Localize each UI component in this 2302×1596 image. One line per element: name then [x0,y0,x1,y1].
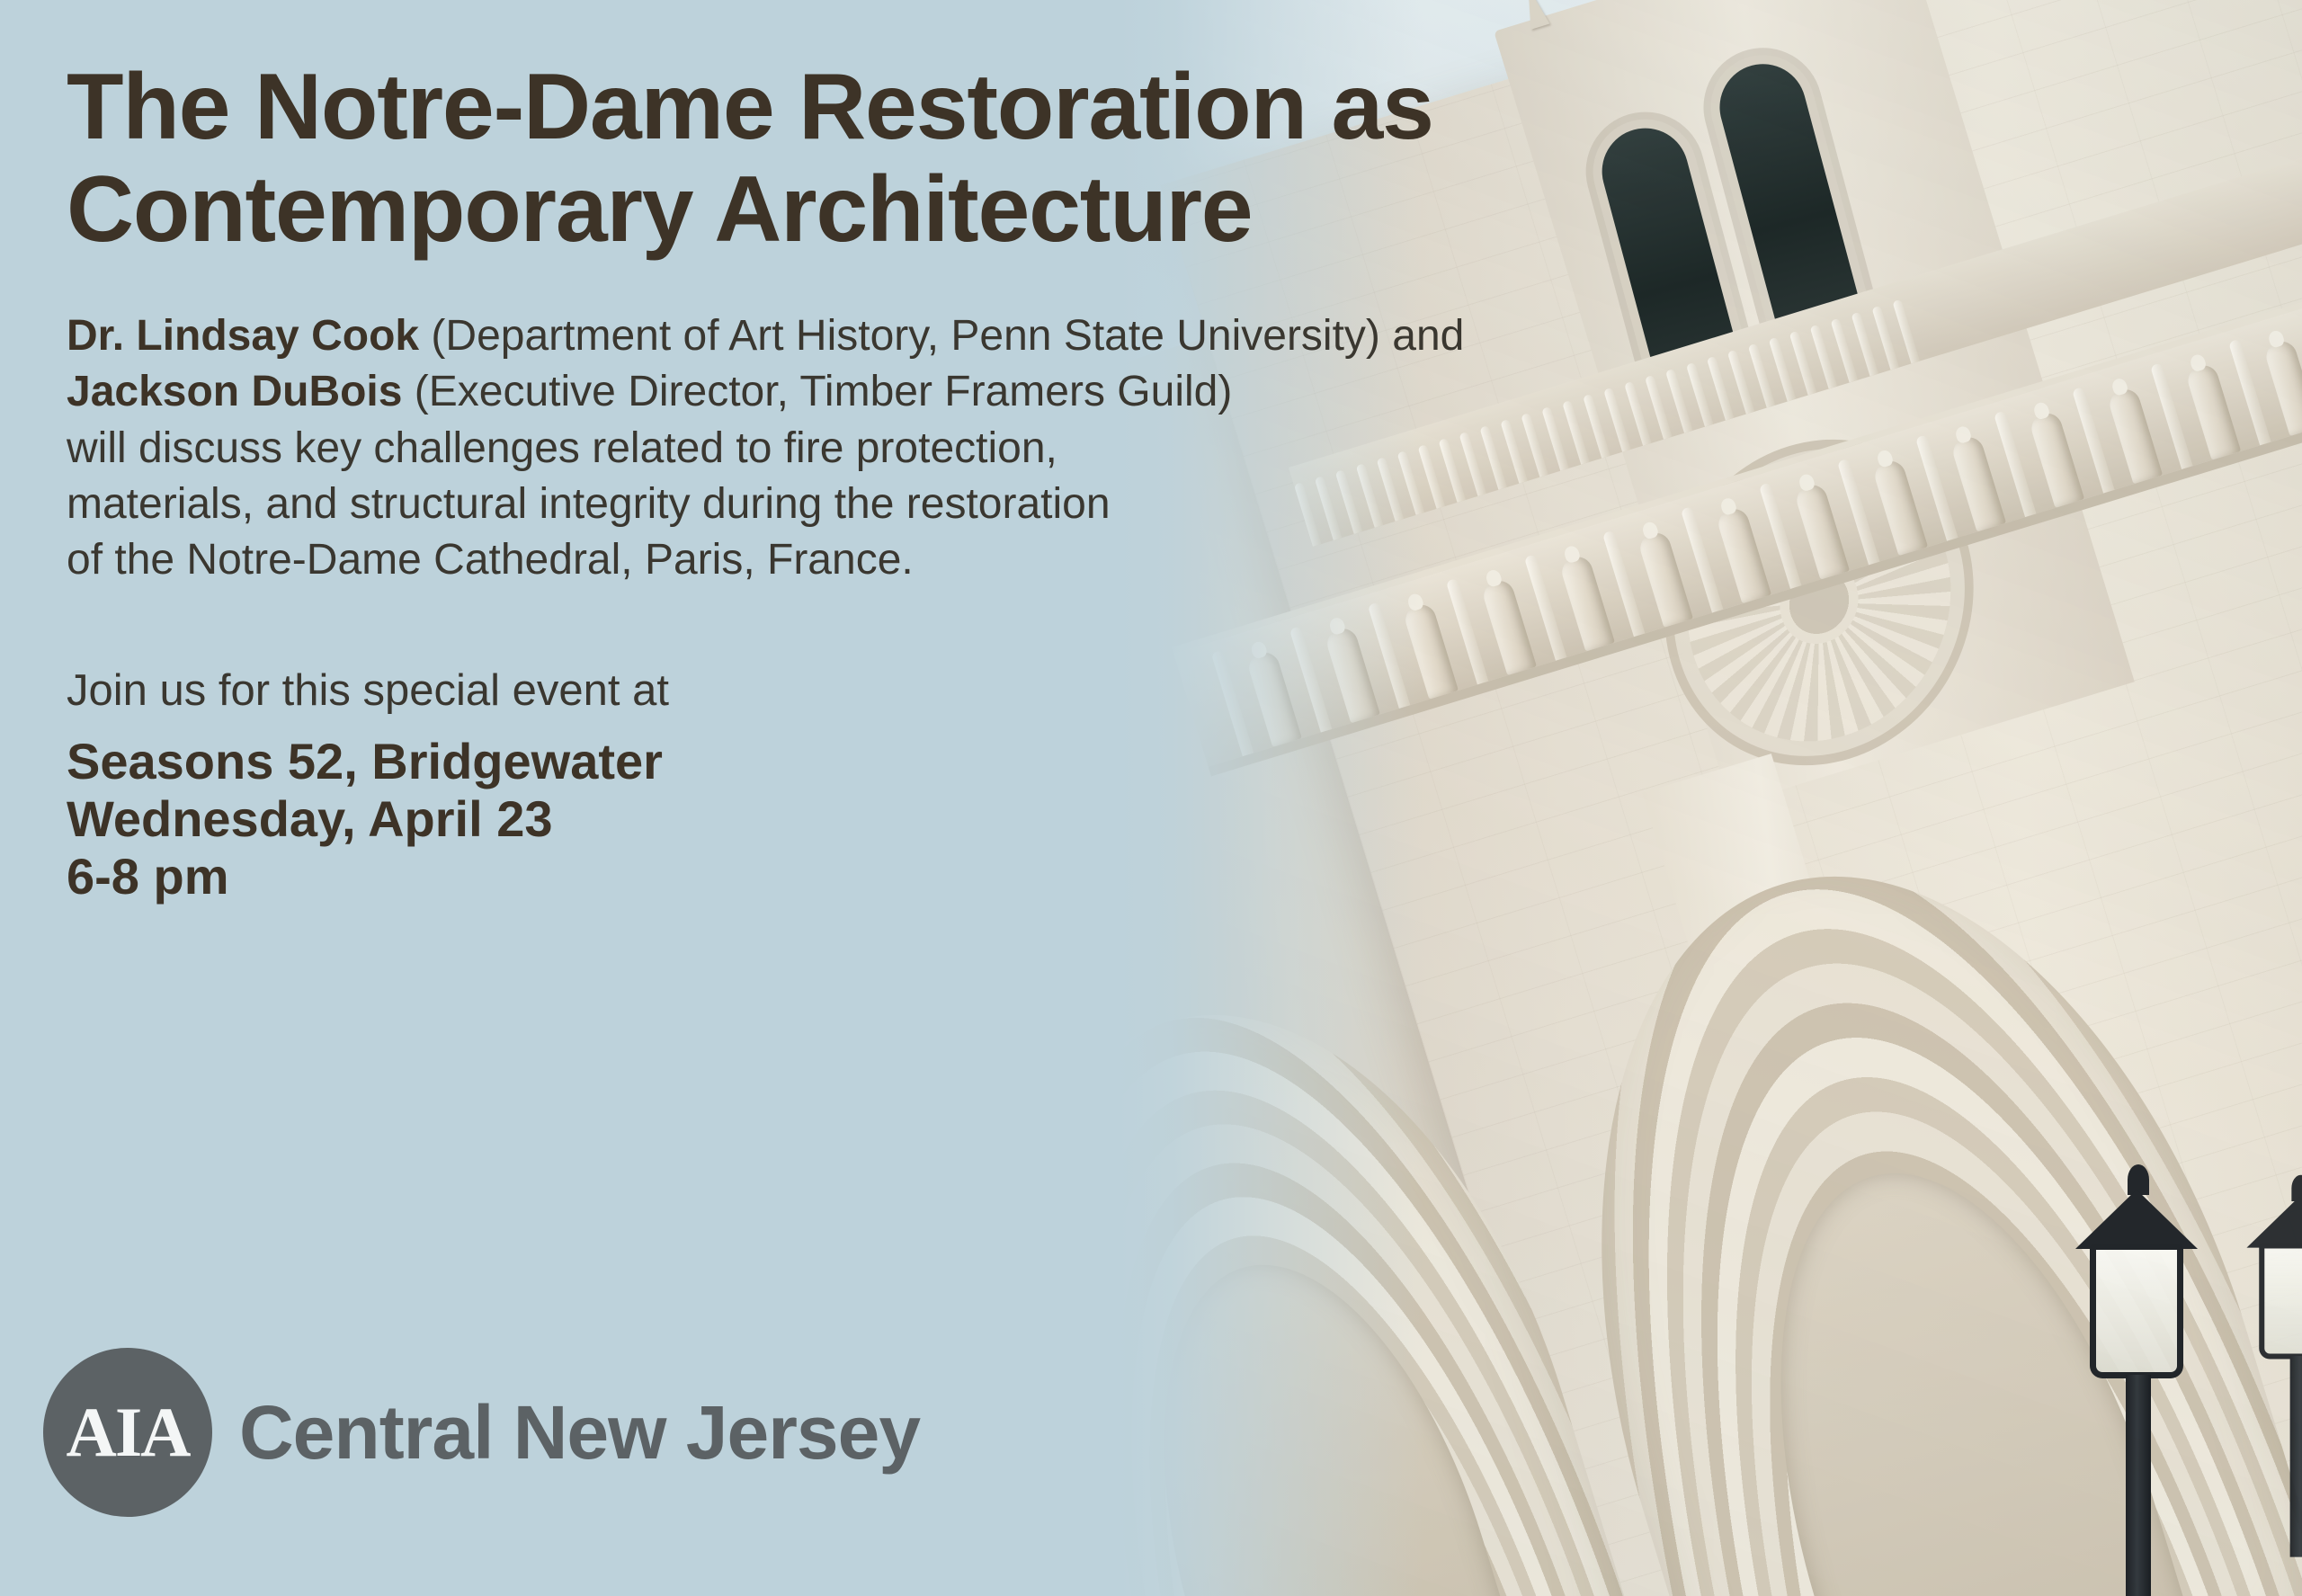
speaker-one-affiliation: (Department of Art History, Penn State U… [419,312,1464,360]
speaker-two-name: Jackson DuBois [67,368,402,415]
event-venue: Seasons 52, Bridgewater [67,733,2302,790]
event-details: Seasons 52, Bridgewater Wednesday, April… [67,733,2302,905]
page-title: The Notre-Dame Restoration as Contempora… [67,56,1802,262]
aia-logo-mark: AIA [43,1348,212,1517]
speaker-one-line: Dr. Lindsay Cook (Department of Art Hist… [67,308,1712,364]
event-time: 6-8 pm [67,848,2302,905]
description-line-5: of the Notre-Dame Cathedral, Paris, Fran… [67,532,1712,588]
chapter-name: Central New Jersey [239,1389,920,1476]
speaker-two-line: Jackson DuBois (Executive Director, Timb… [67,364,1712,420]
description-line-3: will discuss key challenges related to f… [67,421,1712,477]
event-flyer: The Notre-Dame Restoration as Contempora… [0,0,2302,1596]
event-date: Wednesday, April 23 [67,790,2302,848]
aia-logo-text: AIA [66,1397,189,1467]
aia-logo: AIA Central New Jersey [43,1348,920,1517]
speaker-two-affiliation: (Executive Director, Timber Framers Guil… [402,368,1232,415]
description-block: Dr. Lindsay Cook (Department of Art Hist… [67,308,1712,589]
invitation-line: Join us for this special event at [67,663,2302,719]
description-line-4: materials, and structural integrity duri… [67,477,1712,532]
speaker-one-name: Dr. Lindsay Cook [67,312,419,360]
